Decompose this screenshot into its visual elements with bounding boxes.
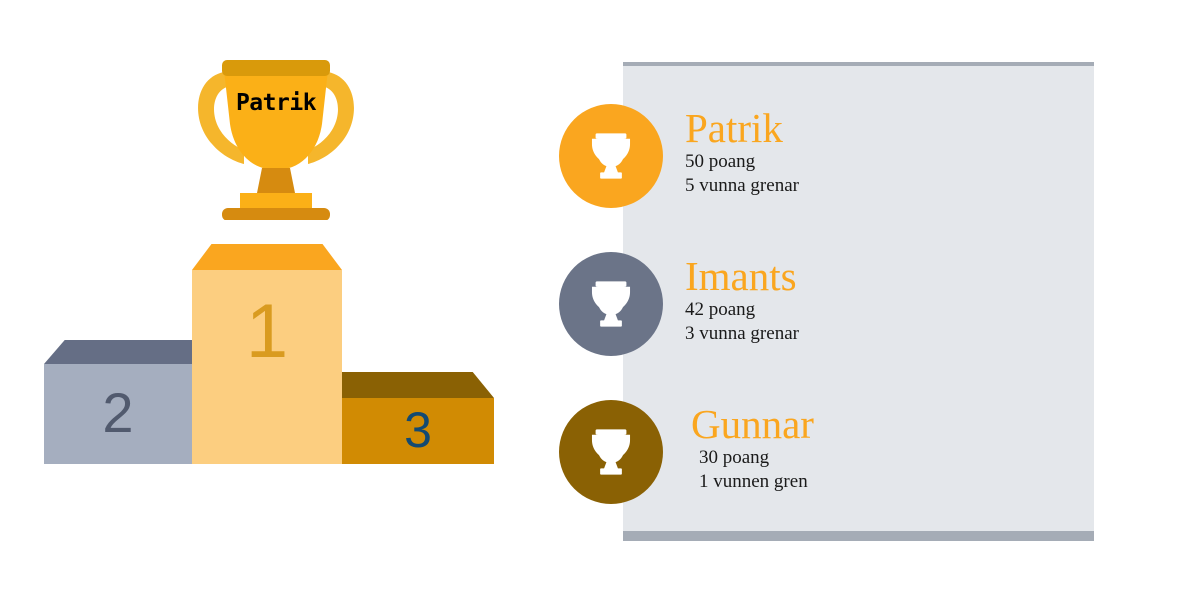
- ranking-entry[interactable]: Imants 42 poang 3 vunna grenar: [559, 252, 999, 356]
- ranking-entry-points: 42 poang: [685, 298, 799, 322]
- trophy-engraved-name: Patrik: [186, 92, 366, 115]
- ranking-entry-name: Gunnar: [691, 402, 814, 446]
- trophy-graphic: Patrik: [186, 48, 366, 220]
- ranking-entry-name: Imants: [685, 254, 799, 298]
- trophy-cup-icon: [186, 48, 366, 220]
- ranking-entry-wins: 5 vunna grenar: [685, 174, 799, 198]
- podium-rank-number-first: 1: [192, 270, 342, 464]
- ranking-entry-wins: 3 vunna grenar: [685, 322, 799, 346]
- podium-scene: Patrik 2 1 3: [0, 0, 560, 603]
- podium-top-face-first: [192, 244, 342, 270]
- medal-badge-first: [559, 104, 663, 208]
- podium-top-face-third: [342, 372, 494, 398]
- ranking-entry-points: 30 poang: [691, 446, 814, 470]
- ranking-panel: Patrik 50 poang 5 vunna grenar Imants 42…: [623, 62, 1094, 541]
- trophy-icon: [582, 423, 640, 481]
- ranking-entry-info: Imants 42 poang 3 vunna grenar: [685, 252, 799, 346]
- ranking-entry-info: Gunnar 30 poang 1 vunnen gren: [691, 400, 814, 494]
- trophy-icon: [582, 275, 640, 333]
- ranking-entry[interactable]: Patrik 50 poang 5 vunna grenar: [559, 104, 999, 208]
- ranking-entry-points: 50 poang: [685, 150, 799, 174]
- medal-badge-third: [559, 400, 663, 504]
- podium-block-first: 1: [192, 244, 342, 464]
- podium-block-third: 3: [342, 372, 494, 464]
- ranking-entry-wins: 1 vunnen gren: [691, 470, 814, 494]
- medal-badge-second: [559, 252, 663, 356]
- podium-rank-number-second: 2: [44, 364, 192, 464]
- podium-top-face-second: [44, 340, 192, 364]
- podium-rank-number-third: 3: [342, 398, 494, 464]
- trophy-icon: [582, 127, 640, 185]
- ranking-entry[interactable]: Gunnar 30 poang 1 vunnen gren: [559, 400, 999, 504]
- ranking-entry-name: Patrik: [685, 106, 799, 150]
- ranking-entry-info: Patrik 50 poang 5 vunna grenar: [685, 104, 799, 198]
- podium-block-second: 2: [44, 340, 192, 464]
